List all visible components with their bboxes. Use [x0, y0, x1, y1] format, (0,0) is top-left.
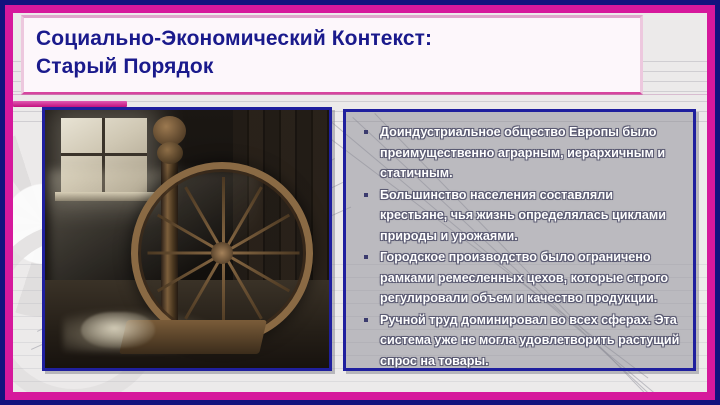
list-item: Городское производство было ограничено р… — [352, 247, 683, 309]
photo-inner — [45, 110, 329, 368]
spoke — [222, 253, 225, 329]
slide-image-spinning-wheel — [42, 107, 332, 371]
spinning-wheel-rim — [131, 162, 313, 344]
spinning-wheel-finial-lower — [157, 142, 183, 164]
wool-fiber-pile — [81, 312, 155, 348]
page-title: Социально-Экономический Контекст: Старый… — [36, 25, 636, 80]
spinning-wheel-hub — [211, 242, 233, 264]
photo-window-mullion-horizontal — [61, 153, 147, 156]
slide-canvas: Социально-Экономический Контекст: Старый… — [13, 13, 707, 392]
list-item: Доиндустриальное общество Европы было пр… — [352, 122, 683, 184]
bullet-list: Доиндустриальное общество Европы было пр… — [352, 122, 683, 371]
spoke — [224, 252, 300, 255]
title-underline-hairline — [13, 94, 707, 95]
content-text-box: Доиндустриальное общество Европы было пр… — [343, 109, 696, 371]
list-item: Ручной труд доминировал во всех сферах. … — [352, 310, 683, 372]
title-band: Социально-Экономический Контекст: Старый… — [21, 15, 643, 95]
list-item: Большинство населения составляли крестья… — [352, 185, 683, 247]
slide-root: Социально-Экономический Контекст: Старый… — [0, 0, 720, 405]
